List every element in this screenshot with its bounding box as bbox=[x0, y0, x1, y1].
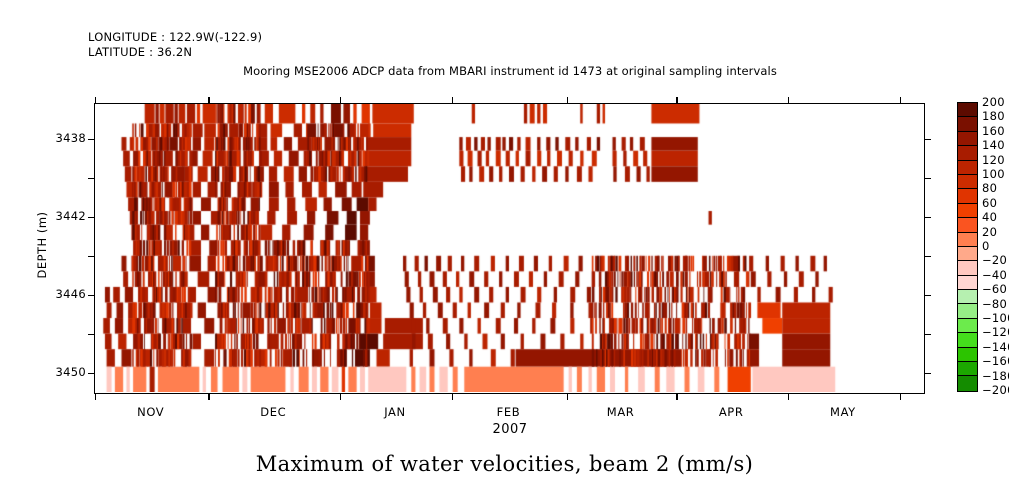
x-tick-label: FEB bbox=[463, 405, 553, 419]
x-axis-tick bbox=[208, 97, 209, 104]
x-tick-label: APR bbox=[686, 405, 776, 419]
colorbar-swatch bbox=[958, 319, 977, 333]
colorbar-swatch bbox=[958, 261, 977, 275]
y-axis-tick bbox=[924, 139, 931, 140]
colorbar-swatch bbox=[958, 376, 977, 390]
y-axis-tick bbox=[924, 295, 931, 296]
y-axis-tick bbox=[924, 217, 931, 218]
colorbar-tick-label: −180 bbox=[982, 369, 1009, 383]
x-tick-label: JAN bbox=[350, 405, 440, 419]
y-axis-tick bbox=[88, 334, 95, 335]
plot-title: Mooring MSE2006 ADCP data from MBARI ins… bbox=[94, 64, 926, 78]
colorbar-swatch bbox=[958, 204, 977, 218]
colorbar-tick-label: 40 bbox=[982, 210, 997, 224]
colorbar-swatch bbox=[958, 103, 977, 117]
y-axis-tick bbox=[924, 256, 931, 257]
colorbar-tick-label: 180 bbox=[982, 109, 1005, 123]
y-axis-tick bbox=[88, 217, 95, 218]
x-axis-tick bbox=[567, 97, 568, 104]
y-axis-tick bbox=[924, 178, 931, 179]
colorbar-tick-label: 120 bbox=[982, 153, 1005, 167]
y-axis-tick bbox=[88, 139, 95, 140]
colorbar-swatch bbox=[958, 233, 977, 247]
colorbar-swatch bbox=[958, 189, 977, 203]
y-tick-label: 3442 bbox=[40, 209, 86, 223]
colorbar-swatch bbox=[958, 117, 977, 131]
x-axis-tick bbox=[788, 393, 789, 400]
y-tick-label: 3450 bbox=[40, 365, 86, 379]
y-axis-tick bbox=[924, 373, 931, 374]
x-axis-tick bbox=[95, 393, 96, 400]
x-axis-tick bbox=[567, 393, 568, 400]
y-axis-tick bbox=[924, 334, 931, 335]
x-axis-tick bbox=[900, 393, 901, 400]
y-tick-label: 3438 bbox=[40, 131, 86, 145]
y-axis-tick bbox=[88, 373, 95, 374]
colorbar-swatch bbox=[958, 218, 977, 232]
y-axis-tick bbox=[88, 295, 95, 296]
x-axis-tick bbox=[676, 393, 677, 400]
colorbar-tick-label: −40 bbox=[982, 268, 1007, 282]
x-tick-label: NOV bbox=[106, 405, 196, 419]
colorbar-swatch bbox=[958, 132, 977, 146]
x-axis-tick bbox=[208, 393, 209, 400]
x-axis-tick bbox=[340, 393, 341, 400]
colorbar-swatch bbox=[958, 348, 977, 362]
y-axis-tick bbox=[88, 178, 95, 179]
colorbar-swatch bbox=[958, 362, 977, 376]
colorbar-tick-label: 20 bbox=[982, 225, 997, 239]
colorbar-tick-label: 80 bbox=[982, 181, 997, 195]
colorbar-swatch bbox=[958, 247, 977, 261]
y-axis-tick bbox=[88, 256, 95, 257]
heatmap-plot-area[interactable] bbox=[94, 103, 925, 394]
x-axis-title: 2007 bbox=[94, 422, 926, 437]
x-tick-label: MAR bbox=[576, 405, 666, 419]
y-tick-label: 3446 bbox=[40, 287, 86, 301]
colorbar-tick-label: −80 bbox=[982, 297, 1007, 311]
colorbar-tick-label: 60 bbox=[982, 196, 997, 210]
colorbar-tick-label: −140 bbox=[982, 340, 1009, 354]
colorbar-tick-label: −60 bbox=[982, 282, 1007, 296]
longitude-text: LONGITUDE : 122.9W(-122.9) bbox=[88, 30, 262, 45]
x-axis-tick bbox=[452, 393, 453, 400]
colorbar-tick-label: 0 bbox=[982, 239, 990, 253]
colorbar-swatch bbox=[958, 175, 977, 189]
colorbar-swatch bbox=[958, 304, 977, 318]
colorbar-tick-label: −160 bbox=[982, 354, 1009, 368]
colorbar-swatch bbox=[958, 161, 977, 175]
colorbar-tick-label: −100 bbox=[982, 311, 1009, 325]
colorbar[interactable] bbox=[957, 102, 978, 392]
colorbar-tick-label: −120 bbox=[982, 325, 1009, 339]
x-axis-tick bbox=[340, 97, 341, 104]
colorbar-tick-label: −20 bbox=[982, 253, 1007, 267]
heatmap-canvas bbox=[95, 104, 923, 392]
x-axis-tick bbox=[676, 97, 677, 104]
colorbar-swatch bbox=[958, 333, 977, 347]
colorbar-swatch bbox=[958, 146, 977, 160]
colorbar-swatch bbox=[958, 276, 977, 290]
colorbar-tick-label: −200 bbox=[982, 383, 1009, 397]
x-axis-tick bbox=[900, 97, 901, 104]
colorbar-tick-label: 100 bbox=[982, 167, 1005, 181]
colorbar-tick-label: 140 bbox=[982, 138, 1005, 152]
x-tick-label: MAY bbox=[798, 405, 888, 419]
latitude-text: LATITUDE : 36.2N bbox=[88, 45, 262, 60]
colorbar-swatch bbox=[958, 290, 977, 304]
x-axis-tick bbox=[95, 97, 96, 104]
x-axis-tick bbox=[788, 97, 789, 104]
station-coordinates: LONGITUDE : 122.9W(-122.9) LATITUDE : 36… bbox=[88, 30, 262, 60]
figure-caption: Maximum of water velocities, beam 2 (mm/… bbox=[0, 452, 1009, 476]
colorbar-tick-label: 160 bbox=[982, 124, 1005, 138]
colorbar-tick-label: 200 bbox=[982, 95, 1005, 109]
x-tick-label: DEC bbox=[228, 405, 318, 419]
x-axis-tick bbox=[452, 97, 453, 104]
